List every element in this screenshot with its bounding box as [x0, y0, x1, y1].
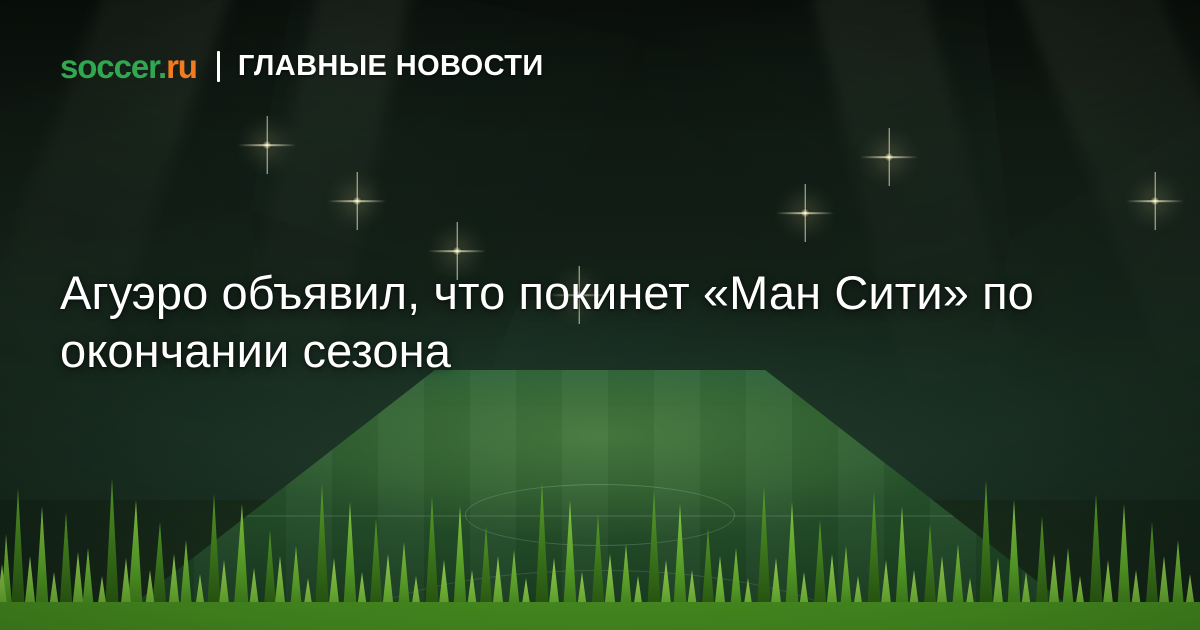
logo-suffix-text: ru: [166, 48, 197, 85]
site-logo[interactable]: soccer.ru: [60, 50, 197, 83]
floodlight-glint-icon: [884, 152, 894, 162]
logo-primary-text: soccer.: [60, 48, 166, 85]
header-separator: [217, 51, 220, 82]
site-header: soccer.ru ГЛАВНЫЕ НОВОСТИ: [60, 50, 544, 83]
floodlight-glint-icon: [800, 208, 810, 218]
grass-foreground: [0, 460, 1200, 630]
news-cover-card: soccer.ru ГЛАВНЫЕ НОВОСТИ Агуэро объявил…: [0, 0, 1200, 630]
floodlight-glint-icon: [352, 196, 362, 206]
floodlight-glint-icon: [452, 246, 462, 256]
floodlight-glint-icon: [1150, 196, 1160, 206]
page-title: Агуэро объявил, что покинет «Ман Сити» п…: [60, 264, 1070, 381]
header-kicker: ГЛАВНЫЕ НОВОСТИ: [238, 52, 544, 81]
floodlight-glint-icon: [262, 140, 272, 150]
